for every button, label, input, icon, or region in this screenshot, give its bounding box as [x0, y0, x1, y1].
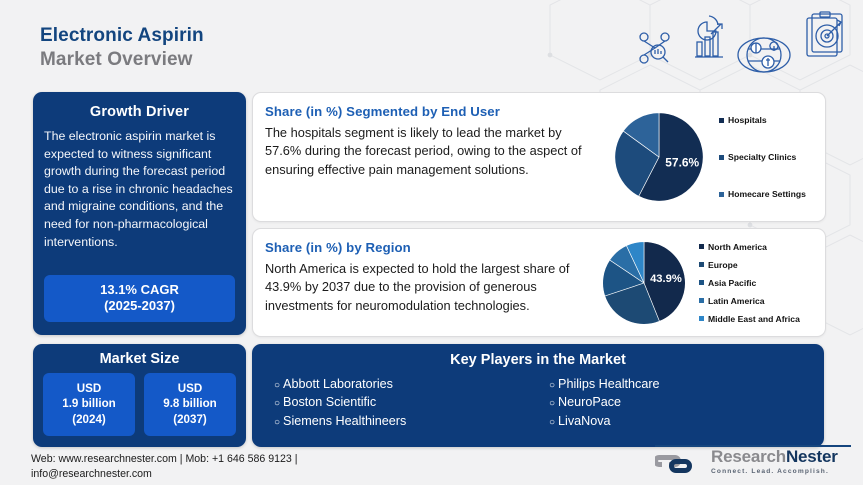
key-players-column-left: ○Abbott Laboratories○Boston Scientific○S… — [274, 375, 549, 430]
card-region: Share (in %) by Region North America is … — [252, 228, 826, 337]
key-player-name: Abbott Laboratories — [283, 375, 393, 393]
growth-driver-title: Growth Driver — [33, 92, 246, 128]
circle-bullet-icon: ○ — [549, 418, 555, 428]
card-region-body: North America is expected to hold the la… — [253, 260, 597, 315]
page-header: Electronic Aspirin Market Overview — [40, 24, 204, 72]
circle-bullet-icon: ○ — [274, 399, 280, 409]
key-player-name: NeuroPace — [558, 393, 621, 411]
legend-swatch — [699, 262, 704, 267]
pie-chart-region: 43.9% — [601, 240, 687, 326]
legend-item: Asia Pacific — [699, 278, 819, 288]
legend-label: Hospitals — [728, 115, 767, 125]
key-player-item: ○NeuroPace — [549, 393, 824, 411]
cagr-period: (2025-2037) — [44, 298, 235, 314]
market-size-panel: Market Size USD 1.9 billion (2024) USD 9… — [33, 344, 246, 447]
legend-swatch — [719, 155, 724, 160]
pie-legend-end-user: HospitalsSpecialty ClinicsHomecare Setti… — [719, 115, 817, 199]
key-player-name: Philips Healthcare — [558, 375, 660, 393]
key-player-name: LivaNova — [558, 412, 611, 430]
growth-driver-panel: Growth Driver The electronic aspirin mar… — [33, 92, 246, 335]
key-players-panel: Key Players in the Market ○Abbott Labora… — [252, 344, 824, 447]
footer-contact: Web: www.researchnester.com | Mob: +1 64… — [31, 452, 371, 482]
logo-word-research: Research — [711, 447, 786, 466]
legend-label: Asia Pacific — [708, 278, 756, 288]
legend-label: North America — [708, 242, 767, 252]
legend-item: Specialty Clinics — [719, 152, 817, 162]
legend-item: Hospitals — [719, 115, 817, 125]
legend-label: Homecare Settings — [728, 189, 806, 199]
legend-label: Latin America — [708, 296, 765, 306]
key-player-name: Boston Scientific — [283, 393, 376, 411]
circle-bullet-icon: ○ — [549, 399, 555, 409]
page-title-secondary: Market Overview — [40, 48, 204, 72]
market-size-box-2024: USD 1.9 billion (2024) — [43, 373, 135, 436]
market-size-currency: USD — [43, 381, 135, 396]
legend-label: Middle East and Africa — [708, 314, 800, 324]
market-size-year: (2024) — [43, 412, 135, 427]
cagr-badge: 13.1% CAGR (2025-2037) — [44, 275, 235, 323]
key-player-item: ○Boston Scientific — [274, 393, 549, 411]
logo-word-nester: Nester — [786, 447, 838, 466]
market-size-title: Market Size — [33, 344, 246, 373]
legend-label: Specialty Clinics — [728, 152, 796, 162]
circle-bullet-icon: ○ — [549, 381, 555, 391]
legend-label: Europe — [708, 260, 738, 270]
market-size-currency: USD — [144, 381, 236, 396]
research-nester-logo: ResearchNester Connect. Lead. Accomplish… — [655, 449, 850, 482]
legend-swatch — [699, 244, 704, 249]
legend-item: Homecare Settings — [719, 189, 817, 199]
market-size-value: 1.9 billion — [43, 396, 135, 411]
legend-swatch — [719, 192, 724, 197]
legend-swatch — [719, 118, 724, 123]
card-end-user-body: The hospitals segment is likely to lead … — [253, 124, 597, 179]
pie-data-label: 43.9% — [650, 273, 682, 285]
market-size-value: 9.8 billion — [144, 396, 236, 411]
legend-item: Latin America — [699, 296, 819, 306]
circle-bullet-icon: ○ — [274, 418, 280, 428]
key-player-item: ○Siemens Healthineers — [274, 412, 549, 430]
key-players-title: Key Players in the Market — [252, 344, 824, 375]
legend-item: Middle East and Africa — [699, 314, 819, 324]
logo-tagline: Connect. Lead. Accomplish. — [711, 468, 838, 475]
pie-chart-end-user: 57.6% — [613, 111, 705, 203]
key-player-item: ○Philips Healthcare — [549, 375, 824, 393]
growth-driver-body: The electronic aspirin market is expecte… — [33, 128, 246, 251]
legend-swatch — [699, 316, 704, 321]
cagr-value: 13.1% CAGR — [44, 282, 235, 298]
circle-bullet-icon: ○ — [274, 381, 280, 391]
key-player-item: ○Abbott Laboratories — [274, 375, 549, 393]
key-players-column-right: ○Philips Healthcare○NeuroPace○LivaNova — [549, 375, 824, 430]
card-end-user: Share (in %) Segmented by End User The h… — [252, 92, 826, 222]
legend-item: North America — [699, 242, 819, 252]
pie-legend-region: North AmericaEuropeAsia PacificLatin Ame… — [699, 242, 819, 324]
pie-data-label: 57.6% — [665, 155, 699, 169]
market-size-year: (2037) — [144, 412, 236, 427]
key-player-item: ○LivaNova — [549, 412, 824, 430]
legend-swatch — [699, 298, 704, 303]
decorative-hex-icons — [625, 4, 863, 92]
key-player-name: Siemens Healthineers — [283, 412, 406, 430]
logo-chain-icon — [655, 449, 705, 479]
legend-swatch — [699, 280, 704, 285]
legend-item: Europe — [699, 260, 819, 270]
page-title-primary: Electronic Aspirin — [40, 24, 204, 48]
market-size-box-2037: USD 9.8 billion (2037) — [144, 373, 236, 436]
